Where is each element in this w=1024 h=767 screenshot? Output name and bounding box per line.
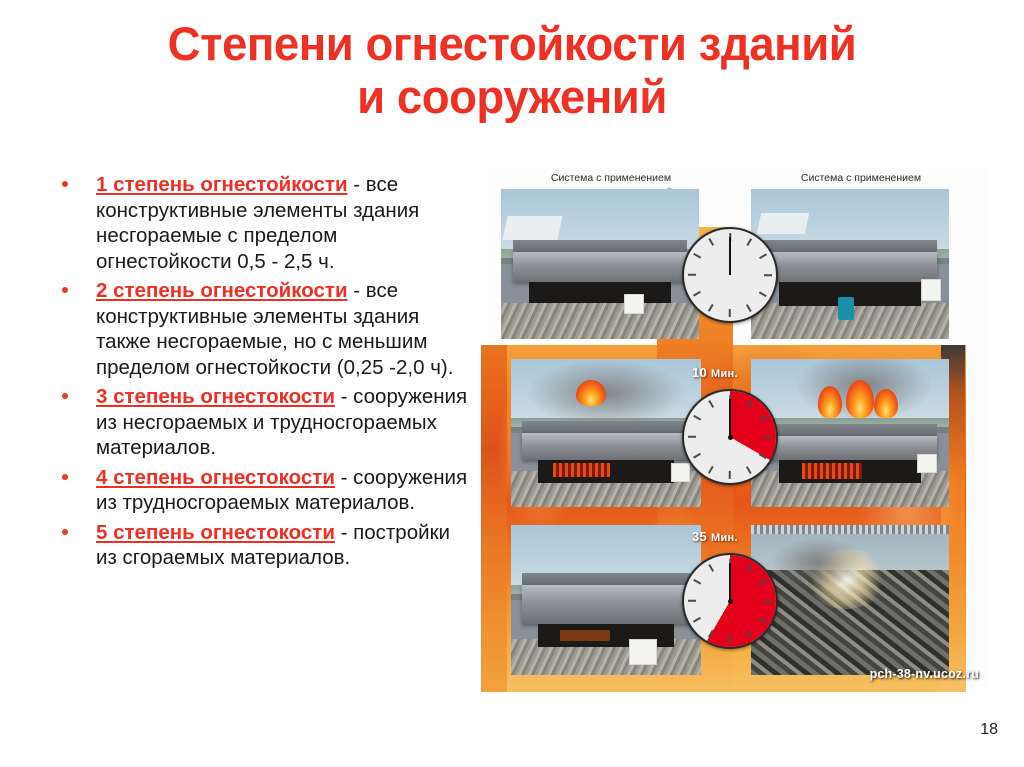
clock-label-10-min: 10 Мин. [692,365,738,380]
watermark: pch-38-nv.ucoz.ru [870,667,979,681]
clock-label-value: 10 [692,365,707,380]
bullet-dot-icon [62,474,68,480]
caption-right-line-1: Система с применением [801,172,921,184]
photo-foamglas-10min [511,359,701,507]
photo-polystyrene-35min-debris [751,525,949,675]
title-line-2: и сооружений [15,71,1008,124]
list-item-heading: 5 степень огнестокости [96,521,335,544]
clock-35-min [682,553,778,649]
list-item-heading: 3 степень огнестокости [96,385,335,408]
clock-label-35-min: 35 Мин. [692,529,738,544]
list-item: 1 степень огнестойкости - все конструкти… [52,172,472,274]
caption-left-line-1: Система с применением [551,172,671,184]
bullet-dot-icon [62,181,68,187]
bullet-dot-icon [62,393,68,399]
photo-foamglas-35min [511,525,701,675]
clock-label-unit: Мин. [711,532,738,544]
bullet-dot-icon [62,287,68,293]
list-item-heading: 4 степень огнестокости [96,466,335,489]
list-item: 3 степень огнестокости - сооружения из н… [52,384,472,461]
fire-resistance-degree-list: 1 степень огнестойкости - все конструкти… [52,172,472,575]
clock-label-value: 35 [692,529,707,544]
list-item-heading: 1 степень огнестойкости [96,173,348,196]
page-number: 18 [980,721,998,739]
photo-polystyrene-10min [751,359,949,507]
clock-label-unit: Мин. [711,368,738,380]
clock-hub [728,435,733,440]
fire-test-comparison-figure: Система с применением пеностекла FOAMGLA… [489,167,989,687]
list-item: 4 степень огнестокости - сооружения из т… [52,465,472,516]
clock-0-min [682,227,778,323]
clock-hand [729,563,731,601]
photo-foamglas-start [501,189,699,339]
list-item: 5 степень огнестокости - постройки из сг… [52,520,472,571]
page-title: Степени огнестойкости зданий и сооружени… [15,18,1008,123]
title-line-1: Степени огнестойкости зданий [168,17,857,70]
flame-backdrop-left-edge [481,345,507,692]
clock-hub [728,599,733,604]
clock-hand [729,399,731,437]
list-item-heading: 2 степень огнестойкости [96,279,348,302]
list-item: 2 степень огнестойкости - все конструкти… [52,278,472,380]
clock-hand [729,237,731,275]
slide: Степени огнестойкости зданий и сооружени… [0,0,1024,767]
clock-10-min [682,389,778,485]
photo-polystyrene-start [751,189,949,339]
bullet-dot-icon [62,529,68,535]
